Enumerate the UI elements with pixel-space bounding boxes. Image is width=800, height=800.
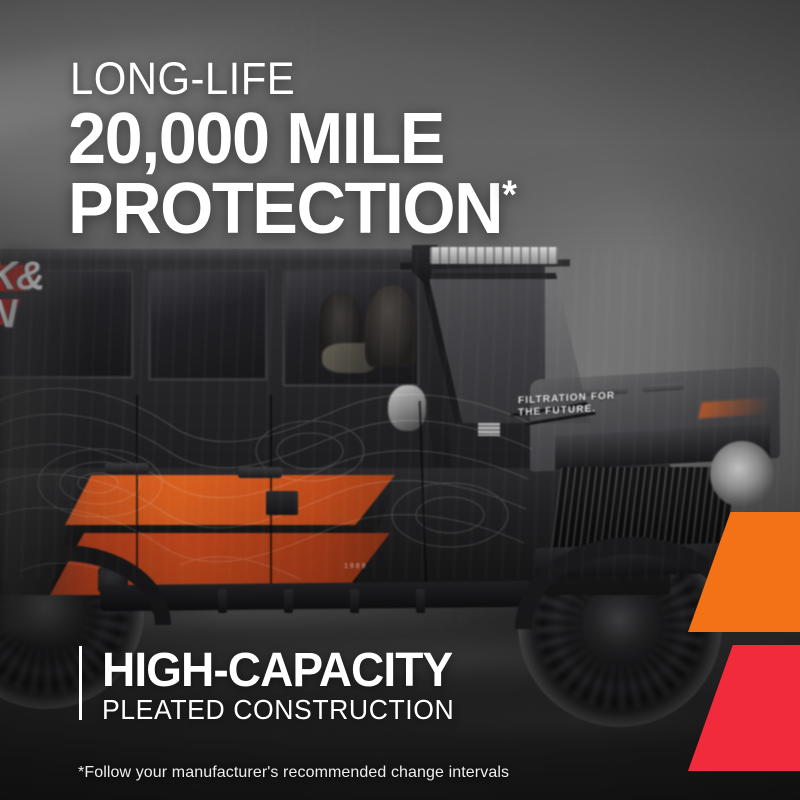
subhead-heading: HIGH-CAPACITY	[102, 646, 458, 695]
footnote-disclaimer: *Follow your manufacturer's recommended …	[78, 763, 509, 783]
subhead-block: HIGH-CAPACITY PLEATED CONSTRUCTION	[79, 646, 473, 720]
copy-layer: LONG-LIFE 20,000 MILE PROTECTION* HIGH-C…	[0, 0, 800, 800]
subhead-description: PLEATED CONSTRUCTION	[102, 695, 454, 725]
headline-line-1: 20,000 MILE	[68, 99, 444, 179]
eyebrow-text: LONG-LIFE	[70, 55, 295, 103]
headline-line-2-wrap: PROTECTION*	[68, 174, 517, 244]
page-title: 20,000 MILE PROTECTION*	[68, 104, 517, 244]
advertisement-canvas: K& N FILTRATION FOR THE FUTURE. 1989 LON…	[0, 0, 800, 800]
headline-asterisk: *	[502, 173, 517, 217]
headline-line-2: PROTECTION	[68, 169, 502, 249]
